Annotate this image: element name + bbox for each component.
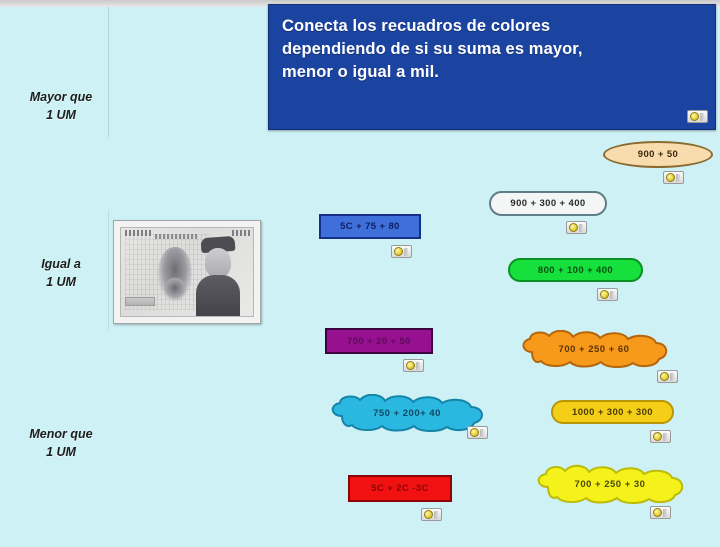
instruction-line-2: dependiendo de si su suma es mayor, (282, 38, 703, 61)
audio-button-900-300-400[interactable] (566, 221, 587, 234)
category-label-menor-line2: 1 UM (6, 443, 116, 461)
sound-wave-icon (663, 509, 667, 517)
operation-card-900-300-400[interactable]: 900 + 300 + 400 (489, 191, 607, 216)
sound-wave-icon (416, 362, 420, 370)
audio-button-50-20-30[interactable] (421, 508, 442, 521)
operation-card-800-100-400[interactable]: 800 + 100 + 400 (508, 258, 643, 282)
audio-button-900-50[interactable] (663, 171, 684, 184)
operation-card-800-100-400-text: 800 + 100 + 400 (538, 265, 613, 276)
category-label-mayor: Mayor que 1 UM (6, 88, 116, 124)
category-label-menor-line1: Menor que (6, 425, 116, 443)
portrait-torso (196, 275, 240, 317)
category-label-mayor-line1: Mayor que (6, 88, 116, 106)
speaker-icon (470, 428, 479, 437)
category-label-igual: Igual a 1 UM (6, 255, 116, 291)
operation-card-1000-300-300[interactable]: 1000 + 300 + 300 (551, 400, 674, 424)
speaker-icon (660, 372, 669, 381)
operation-card-700-250-30-text: 700 + 250 + 30 (534, 464, 686, 504)
banknote-denomination-top-left (125, 230, 151, 236)
audio-button-700-20-50[interactable] (403, 359, 424, 372)
audio-button-800-100-400[interactable] (597, 288, 618, 301)
operation-card-700-250-30[interactable]: 700 + 250 + 30 (534, 464, 686, 504)
portrait-face (205, 248, 231, 278)
operation-card-700-250-60-text: 700 + 250 + 60 (518, 330, 670, 368)
banknote-portrait (193, 233, 243, 310)
audio-button-1000-300-300[interactable] (650, 430, 671, 443)
banknote-image (113, 220, 261, 324)
instruction-line-1: Conecta los recuadros de colores (282, 15, 703, 38)
sound-wave-icon (676, 174, 680, 182)
category-label-igual-line1: Igual a (6, 255, 116, 273)
audio-button-700-250-60[interactable] (657, 370, 678, 383)
banknote-emblem (158, 247, 192, 301)
speaker-icon (666, 173, 675, 182)
activity-canvas: Conecta los recuadros de colores dependi… (0, 0, 720, 547)
operation-card-900-300-400-text: 900 + 300 + 400 (510, 198, 585, 209)
speaker-icon (600, 290, 609, 299)
sound-wave-icon (663, 433, 667, 441)
banknote-artwork (120, 227, 254, 317)
sound-wave-icon (434, 511, 438, 519)
sound-wave-icon (480, 429, 484, 437)
audio-button-700-250-30[interactable] (650, 506, 671, 519)
operation-card-900-50[interactable]: 900 + 50 (603, 141, 713, 168)
category-label-mayor-line2: 1 UM (6, 106, 116, 124)
speaker-icon (690, 112, 699, 121)
operation-card-750-200-40-text: 750 + 200+ 40 (328, 394, 486, 432)
sound-wave-icon (670, 373, 674, 381)
speaker-icon (653, 508, 662, 517)
operation-card-750-200-40[interactable]: 750 + 200+ 40 (328, 394, 486, 432)
operation-card-700-20-50-text: 700 + 20 + 50 (347, 336, 411, 347)
speaker-icon (653, 432, 662, 441)
sound-wave-icon (579, 224, 583, 232)
operation-card-700-250-60[interactable]: 700 + 250 + 60 (518, 330, 670, 368)
operation-card-50-75-80[interactable]: 5C + 75 + 80 (319, 214, 421, 239)
speaker-icon (569, 223, 578, 232)
sound-wave-icon (404, 248, 408, 256)
operation-card-900-50-text: 900 + 50 (638, 149, 678, 160)
audio-button-750-200-40[interactable] (467, 426, 488, 439)
banknote-denomination-bottom-left (125, 297, 155, 306)
speaker-icon (406, 361, 415, 370)
instruction-audio-button[interactable] (687, 110, 708, 123)
instruction-line-3: menor o igual a mil. (282, 61, 703, 84)
operation-card-50-75-80-text: 5C + 75 + 80 (340, 221, 400, 232)
audio-button-50-75-80[interactable] (391, 245, 412, 258)
operation-card-1000-300-300-text: 1000 + 300 + 300 (572, 407, 653, 418)
operation-card-50-20-30[interactable]: 5C + 2C -3C (348, 475, 452, 502)
category-label-menor: Menor que 1 UM (6, 425, 116, 461)
category-label-igual-line2: 1 UM (6, 273, 116, 291)
sound-wave-icon (700, 113, 704, 121)
operation-card-700-20-50[interactable]: 700 + 20 + 50 (325, 328, 433, 354)
speaker-icon (394, 247, 403, 256)
speaker-icon (424, 510, 433, 519)
operation-card-50-20-30-text: 5C + 2C -3C (371, 483, 428, 494)
instruction-panel: Conecta los recuadros de colores dependi… (268, 4, 716, 130)
sound-wave-icon (610, 291, 614, 299)
